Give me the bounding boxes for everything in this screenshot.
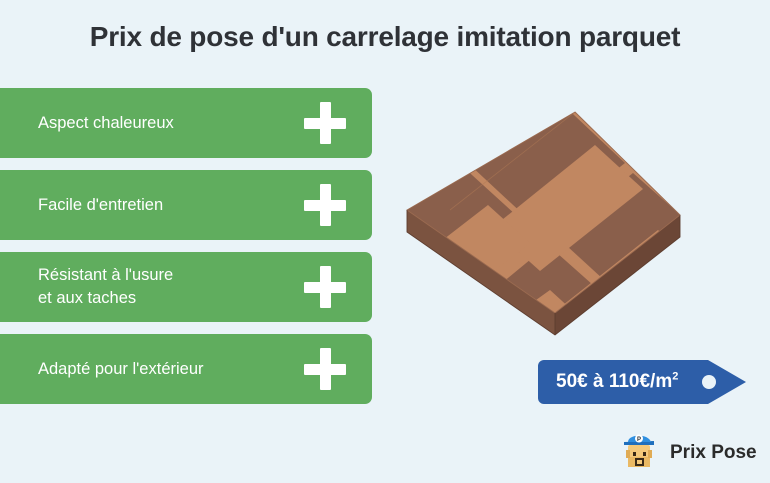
feature-item-4[interactable]: Adapté pour l'extérieur: [0, 334, 372, 404]
price-tag-value: 50€ à 110€/m: [556, 371, 672, 392]
plus-icon[interactable]: [304, 348, 346, 390]
plus-icon[interactable]: [304, 102, 346, 144]
plus-icon[interactable]: [304, 266, 346, 308]
feature-list: Aspect chaleureux Facile d'entretien Rés…: [0, 88, 372, 416]
brand-name: Prix Pose: [670, 442, 757, 464]
price-tag-exponent: 2: [672, 371, 678, 383]
feature-item-1[interactable]: Aspect chaleureux: [0, 88, 372, 158]
price-tag: 50€ à 110€/m2: [538, 360, 746, 404]
brand-logo[interactable]: P Prix Pose: [618, 430, 757, 476]
feature-item-3[interactable]: Résistant à l'usure et aux taches: [0, 252, 372, 322]
feature-label-1: Aspect chaleureux: [38, 112, 304, 135]
page-title: Prix de pose d'un carrelage imitation pa…: [0, 20, 770, 54]
prix-pose-mascot-icon: P: [618, 431, 662, 475]
feature-item-2[interactable]: Facile d'entretien: [0, 170, 372, 240]
feature-label-2: Facile d'entretien: [38, 194, 304, 217]
feature-label-3: Résistant à l'usure et aux taches: [38, 264, 304, 310]
feature-label-4: Adapté pour l'extérieur: [38, 358, 304, 381]
cap-letter: P: [637, 437, 641, 443]
plus-icon[interactable]: [304, 184, 346, 226]
infographic-page: Prix de pose d'un carrelage imitation pa…: [0, 0, 770, 483]
parquet-tile-illustration: [390, 95, 700, 345]
price-tag-label: 50€ à 110€/m2: [556, 360, 678, 404]
